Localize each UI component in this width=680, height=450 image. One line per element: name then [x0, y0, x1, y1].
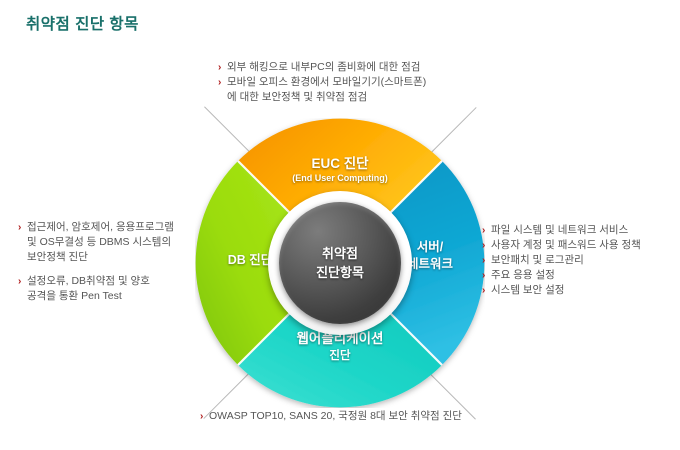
note-right-item-1: › 파일 시스템 및 네트워크 서비스: [482, 223, 641, 238]
note-right-item-5-line-1: 시스템 보안 설정: [491, 284, 564, 296]
note-top-item-1-line-1: 외부 해킹으로 내부PC의 좀비화에 대한 점검: [227, 61, 420, 73]
note-right-item-1-line-1: 파일 시스템 및 네트워크 서비스: [491, 224, 628, 236]
note-left-item-1-line-3: 보안정책 진단: [18, 250, 174, 265]
bullet-icon: ›: [218, 75, 221, 90]
note-bottom-item-1: › OWASP TOP10, SANS 20, 국정원 8대 보안 취약점 진단: [200, 409, 462, 424]
note-left-item-2-line-1: 설정오류, DB취약점 및 양호: [27, 275, 150, 287]
note-top-item-1: › 외부 해킹으로 내부PC의 좀비화에 대한 점검: [218, 60, 426, 75]
note-left: › 접근제어, 암호제어, 응용프로그램 및 OS무결성 등 DBMS 시스템의…: [18, 220, 174, 304]
bullet-icon: ›: [200, 409, 203, 424]
hub-sphere: 취약점 진단항목: [279, 202, 401, 324]
bullet-icon: ›: [482, 238, 485, 253]
bullet-icon: ›: [18, 274, 21, 289]
note-bottom: › OWASP TOP10, SANS 20, 국정원 8대 보안 취약점 진단: [200, 409, 462, 424]
bullet-icon: ›: [482, 268, 485, 283]
note-right-item-4-line-1: 주요 응용 설정: [491, 269, 555, 281]
note-left-item-1-line-2: 및 OS무결성 등 DBMS 시스템의: [18, 235, 174, 250]
note-top-item-2-line-2: 에 대한 보안정책 및 취약점 점검: [218, 90, 426, 105]
note-right-item-2: › 사용자 계정 및 패스워드 사용 정책: [482, 238, 641, 253]
page-title: 취약점 진단 항목: [26, 12, 139, 34]
note-left-item-2: › 설정오류, DB취약점 및 양호: [18, 274, 174, 289]
note-left-item-2-line-2: 공격을 통환 Pen Test: [18, 289, 174, 304]
note-left-item-1-line-1: 접근제어, 암호제어, 응용프로그램: [27, 221, 174, 233]
note-right: › 파일 시스템 및 네트워크 서비스 › 사용자 계정 및 패스워드 사용 정…: [482, 223, 641, 298]
slide-canvas: 취약점 진단 항목: [0, 0, 680, 450]
bullet-icon: ›: [18, 220, 21, 235]
bullet-icon: ›: [482, 283, 485, 298]
hub-label-line1: 취약점: [322, 246, 358, 261]
note-right-item-5: › 시스템 보안 설정: [482, 283, 641, 298]
note-left-item-1: › 접근제어, 암호제어, 응용프로그램: [18, 220, 174, 235]
note-top-item-2-line-1: 모바일 오피스 환경에서 모바일기기(스마트폰): [227, 76, 426, 88]
note-right-item-4: › 주요 응용 설정: [482, 268, 641, 283]
note-top-item-2: › 모바일 오피스 환경에서 모바일기기(스마트폰): [218, 75, 426, 90]
note-bottom-item-1-line-1: OWASP TOP10, SANS 20, 국정원 8대 보안 취약점 진단: [209, 410, 462, 422]
bullet-icon: ›: [482, 223, 485, 238]
hub-label: 취약점 진단항목: [316, 244, 364, 282]
note-top: › 외부 해킹으로 내부PC의 좀비화에 대한 점검 › 모바일 오피스 환경에…: [218, 60, 426, 105]
note-left-spacer: [18, 265, 174, 274]
hub-label-line2: 진단항목: [316, 265, 364, 280]
bullet-icon: ›: [218, 60, 221, 75]
note-right-item-3: › 보안패치 및 로그관리: [482, 253, 641, 268]
note-right-item-2-line-1: 사용자 계정 및 패스워드 사용 정책: [491, 239, 641, 251]
vulnerability-donut-diagram: EUC 진단 (End User Computing) 서버/ 네트워크 DB …: [195, 118, 485, 408]
note-right-item-3-line-1: 보안패치 및 로그관리: [491, 254, 584, 266]
bullet-icon: ›: [482, 253, 485, 268]
